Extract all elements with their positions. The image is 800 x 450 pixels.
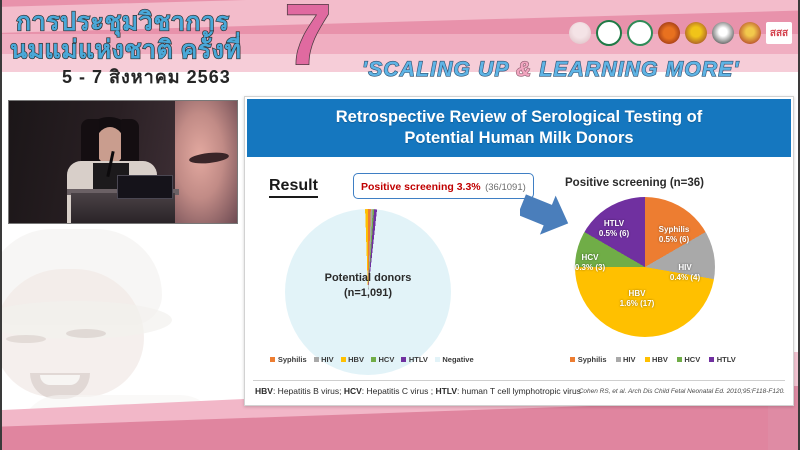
potential-donors-center-label: Potential donors (n=1,091) <box>285 271 451 301</box>
slide-title-bar: Retrospective Review of Serological Test… <box>247 99 791 157</box>
presentation-slide[interactable]: Retrospective Review of Serological Test… <box>244 96 794 406</box>
sponsor-logo-7-icon <box>739 22 761 44</box>
legend2-label-hcv: HCV <box>684 355 700 364</box>
slice-label-htlv: HTLV 0.5% (6) <box>589 219 639 239</box>
hbv-key: HBV <box>255 386 273 396</box>
tagline-part-2: LEARNING MORE' <box>532 58 739 81</box>
positive-screening-pie-chart: Syphilis 0.5% (6) HIV 0.4% (4) HBV 1.6% … <box>575 197 715 337</box>
slice-label-hiv: HIV 0.4% (4) <box>661 263 709 283</box>
legend2-label-hbv: HBV <box>652 355 668 364</box>
conference-header: การประชุมวิชาการ นมแม่แห่งชาติ ครั้งที่ … <box>0 0 800 95</box>
source-citation: Cohen RS, et al. Arch Dis Child Fetal Ne… <box>579 388 785 395</box>
presentation-stage: การประชุมวิชาการ นมแม่แห่งชาติ ครั้งที่ … <box>0 0 800 450</box>
legend2-item-syphilis: Syphilis <box>570 355 606 364</box>
htlv-key: HTLV <box>435 386 457 396</box>
slide-footnote: HBV: Hepatitis B virus; HCV: Hepatitis C… <box>247 381 791 401</box>
legend-label-syphilis: Syphilis <box>278 355 307 364</box>
legend-swatch-hiv-icon <box>314 357 319 362</box>
legend2-swatch-htlv-icon <box>709 357 714 362</box>
slice-label-syphilis: Syphilis 0.5% (6) <box>647 225 701 245</box>
legend-swatch-hcv-icon <box>371 357 376 362</box>
legend-swatch-syphilis-icon <box>270 357 275 362</box>
legend2-swatch-hbv-icon <box>645 357 650 362</box>
legend2-swatch-syphilis-icon <box>570 357 575 362</box>
legend-label-negative: Negative <box>442 355 473 364</box>
photo-overlay <box>0 225 250 425</box>
legend2-label-hiv: HIV <box>623 355 636 364</box>
legend-label-hbv: HBV <box>348 355 364 364</box>
potential-donors-legend: Syphilis HIV HBV HCV HTLV Negative <box>267 355 477 364</box>
tagline-part-1: 'SCALING UP <box>362 58 516 81</box>
legend-item-hcv: HCV <box>371 355 394 364</box>
legend-item-negative: Negative <box>435 355 474 364</box>
hcv-definition: : Hepatitis C virus ; <box>362 386 436 396</box>
legend-swatch-negative-icon <box>435 357 440 362</box>
legend2-item-htlv: HTLV <box>709 355 736 364</box>
legend-swatch-hbv-icon <box>341 357 346 362</box>
legend2-item-hcv: HCV <box>677 355 700 364</box>
legend-item-syphilis: Syphilis <box>270 355 306 364</box>
legend-item-hbv: HBV <box>341 355 364 364</box>
legend-swatch-htlv-icon <box>401 357 406 362</box>
legend-label-htlv: HTLV <box>409 355 428 364</box>
conference-tagline: 'SCALING UP & LEARNING MORE' <box>362 58 740 82</box>
sponsor-logo-5-icon <box>685 22 707 44</box>
result-heading: Result <box>269 177 318 198</box>
legend-item-hiv: HIV <box>314 355 334 364</box>
tagline-ampersand: & <box>516 58 532 81</box>
callout-sub-text: (36/1091) <box>485 182 526 193</box>
htlv-definition: : human T cell lymphotropic virus <box>457 386 581 396</box>
sponsor-logo-6-icon <box>712 22 734 44</box>
hcv-key: HCV <box>344 386 362 396</box>
sponsor-logo-thaihealth-icon: สสส <box>766 22 792 44</box>
positive-screening-legend: Syphilis HIV HBV HCV HTLV <box>553 355 753 364</box>
positive-screening-callout: Positive screening 3.3% (36/1091) <box>353 173 534 199</box>
callout-main-text: Positive screening 3.3% <box>361 181 481 193</box>
frame-border-left <box>0 0 2 450</box>
sponsor-logo-3-icon <box>627 20 653 46</box>
sponsor-logos: สสส <box>569 20 792 46</box>
legend-label-hiv: HIV <box>321 355 334 364</box>
legend2-item-hbv: HBV <box>645 355 668 364</box>
legend2-swatch-hcv-icon <box>677 357 682 362</box>
sponsor-logo-1-icon <box>569 22 591 44</box>
hbv-definition: : Hepatitis B virus; <box>273 386 344 396</box>
legend-label-hcv: HCV <box>378 355 394 364</box>
slice-label-hbv: HBV 1.6% (17) <box>611 289 663 309</box>
blue-block-arrow-icon <box>520 193 570 235</box>
speaker-video-inset[interactable] <box>8 100 238 224</box>
legend2-label-htlv: HTLV <box>717 355 736 364</box>
slide-title: Retrospective Review of Serological Test… <box>336 107 702 149</box>
positive-screening-chart-title: Positive screening (n=36) <box>565 177 704 189</box>
abbreviation-definitions: HBV: Hepatitis B virus; HCV: Hepatitis C… <box>255 386 581 396</box>
slice-label-hcv: HCV 0.3% (3) <box>569 253 611 273</box>
sponsor-logo-2-icon <box>596 20 622 46</box>
conference-edition-number: 7 <box>284 0 332 78</box>
legend-item-htlv: HTLV <box>401 355 428 364</box>
baby-background-photo <box>0 225 250 425</box>
legend2-label-syphilis: Syphilis <box>578 355 607 364</box>
legend2-item-hiv: HIV <box>616 355 636 364</box>
legend2-swatch-hiv-icon <box>616 357 621 362</box>
potential-donors-pie-chart: Potential donors (n=1,091) <box>285 209 451 375</box>
sponsor-logo-4-icon <box>658 22 680 44</box>
laptop-icon <box>117 175 173 199</box>
conference-date: 5 - 7 สิงหาคม 2563 <box>62 62 231 91</box>
